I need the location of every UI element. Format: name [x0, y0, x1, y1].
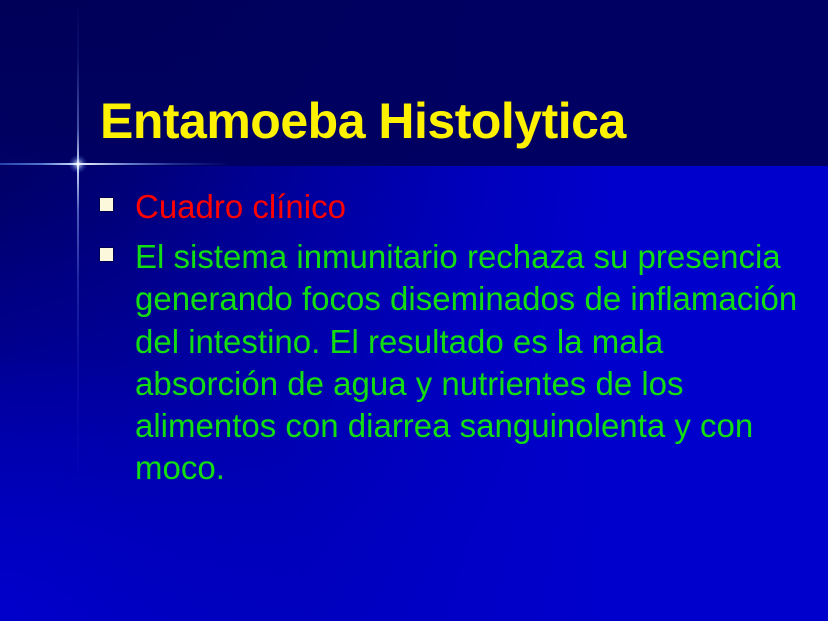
bullet-item-cuadro-clinico: Cuadro clínico: [100, 186, 800, 228]
bullet-text: El sistema inmunitario rechaza su presen…: [135, 236, 800, 489]
bullet-text: Cuadro clínico: [135, 186, 800, 228]
slide-title: Entamoeba Histolytica: [100, 96, 800, 146]
square-bullet-icon: [100, 198, 113, 211]
bullet-item-descripcion: El sistema inmunitario rechaza su presen…: [100, 236, 800, 489]
slide-body: Cuadro clínico El sistema inmunitario re…: [100, 186, 800, 498]
presentation-slide: Entamoeba Histolytica Cuadro clínico El …: [0, 0, 828, 621]
square-bullet-icon: [100, 248, 113, 261]
